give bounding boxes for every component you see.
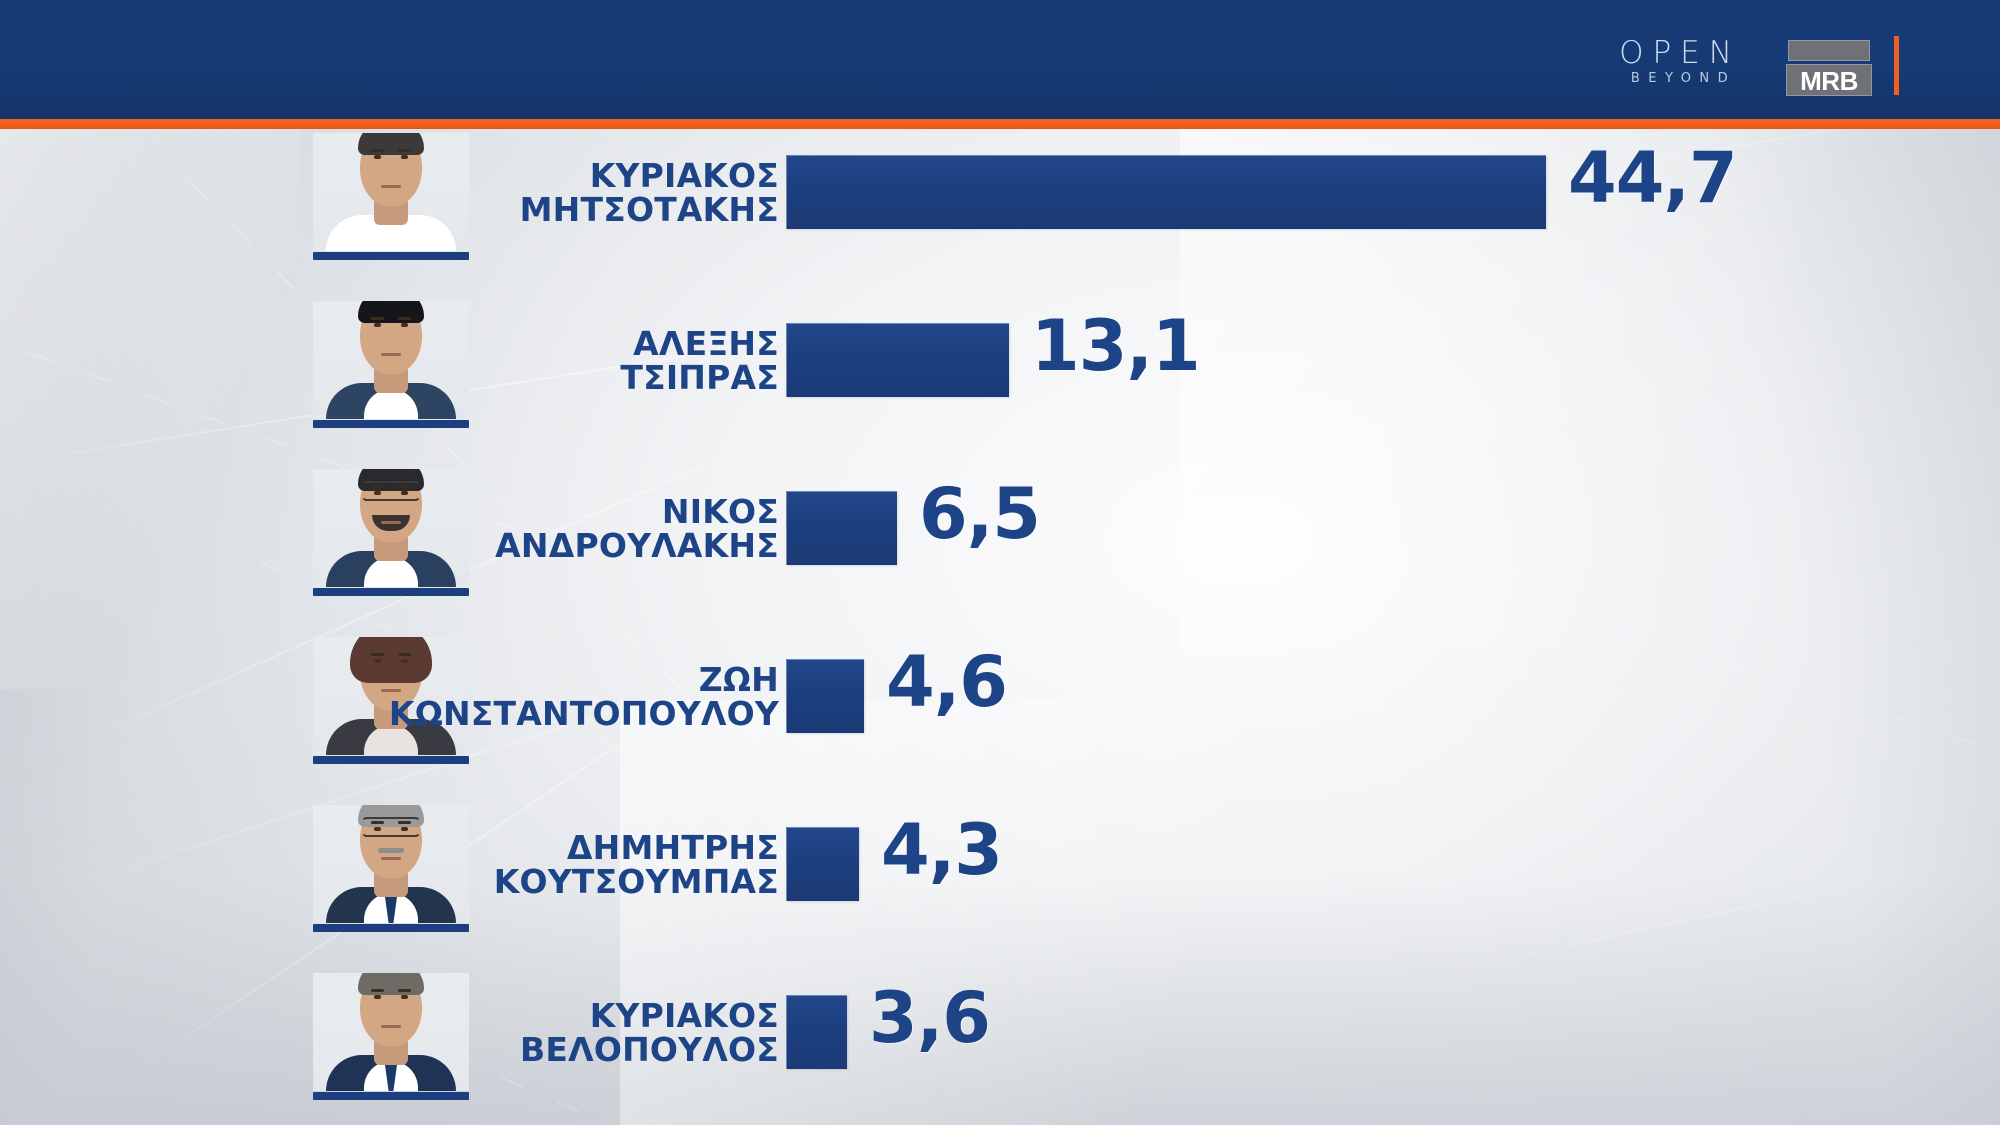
- broadcast-poll-graphic: Καταλληλότερος Πρωθυπουργός- Αυθόρμητα O…: [0, 0, 2000, 1125]
- candidate-name-line2: ΜΗΤΣΟΤΑΚΗΣ: [520, 193, 779, 227]
- candidate-name: ΑΛΕΞΗΣΤΣΙΠΡΑΣ: [489, 297, 779, 425]
- candidate-name-line2: ΚΩΝΣΤΑΝΤΟΠΟΥΛΟΥ: [389, 697, 779, 731]
- candidate-photo-underline: [313, 924, 469, 932]
- candidate-name-line1: ΚΥΡΙΑΚΟΣ: [590, 159, 779, 193]
- candidate-name: ΝΙΚΟΣΑΝΔΡΟΥΛΑΚΗΣ: [489, 465, 779, 593]
- candidate-photo: [313, 973, 469, 1091]
- candidate-name: ΚΥΡΙΑΚΟΣΜΗΤΣΟΤΑΚΗΣ: [489, 129, 779, 257]
- bar: [786, 491, 897, 565]
- header-orange-tick: [1894, 36, 1899, 95]
- candidate-photo: [313, 805, 469, 923]
- candidate-name-line1: ΔΗΜΗΤΡΗΣ: [567, 831, 779, 865]
- candidate-name-line1: ΖΩΗ: [699, 663, 779, 697]
- candidate-photo-underline: [313, 588, 469, 596]
- candidate-photo-underline: [313, 420, 469, 428]
- candidate-photo-underline: [313, 756, 469, 764]
- candidate-photo-image: [313, 133, 469, 251]
- mrb-logo-cap: [1788, 40, 1870, 61]
- candidate-photo-underline: [313, 1092, 469, 1100]
- candidate-photo-image: [313, 301, 469, 419]
- chart-row: ΖΩΗΚΩΝΣΤΑΝΤΟΠΟΥΛΟΥ4,6: [0, 633, 2000, 801]
- mrb-logo-label: MRB: [1800, 68, 1858, 94]
- bar-value-label: 13,1: [1031, 311, 1200, 381]
- chart-row: ΑΛΕΞΗΣΤΣΙΠΡΑΣ13,1: [0, 297, 2000, 465]
- open-logo-word: OPEN: [1600, 36, 1760, 70]
- bar-value-label: 4,6: [886, 647, 1007, 717]
- mrb-logo: MRB: [1786, 40, 1872, 96]
- mrb-logo-body: MRB: [1786, 64, 1872, 96]
- candidate-name: ΖΩΗΚΩΝΣΤΑΝΤΟΠΟΥΛΟΥ: [489, 633, 779, 761]
- candidate-photo: [313, 469, 469, 587]
- bar-value-label: 44,7: [1568, 143, 1737, 213]
- candidate-name-line1: ΑΛΕΞΗΣ: [633, 327, 779, 361]
- bar: [786, 827, 859, 901]
- candidate-name-line1: ΝΙΚΟΣ: [662, 495, 779, 529]
- candidate-name: ΔΗΜΗΤΡΗΣΚΟΥΤΣΟΥΜΠΑΣ: [489, 801, 779, 929]
- bar-chart: ΚΥΡΙΑΚΟΣΜΗΤΣΟΤΑΚΗΣ44,7ΑΛΕΞΗΣΤΣΙΠΡΑΣ13,1Ν…: [0, 129, 2000, 1125]
- candidate-name-line2: ΑΝΔΡΟΥΛΑΚΗΣ: [495, 529, 779, 563]
- candidate-photo-underline: [313, 252, 469, 260]
- bar-value-label: 3,6: [869, 983, 990, 1053]
- candidate-name-line2: ΒΕΛΟΠΟΥΛΟΣ: [520, 1033, 779, 1067]
- bar-value-label: 6,5: [919, 479, 1040, 549]
- candidate-name-line2: ΤΣΙΠΡΑΣ: [620, 361, 779, 395]
- chart-row: ΚΥΡΙΑΚΟΣΒΕΛΟΠΟΥΛΟΣ3,6: [0, 969, 2000, 1125]
- bar: [786, 995, 847, 1069]
- candidate-photo-image: [313, 469, 469, 587]
- header-orange-rule: [0, 119, 2000, 129]
- candidate-photo: [313, 301, 469, 419]
- candidate-name-line1: ΚΥΡΙΑΚΟΣ: [590, 999, 779, 1033]
- chart-row: ΔΗΜΗΤΡΗΣΚΟΥΤΣΟΥΜΠΑΣ4,3: [0, 801, 2000, 969]
- chart-row: ΚΥΡΙΑΚΟΣΜΗΤΣΟΤΑΚΗΣ44,7: [0, 129, 2000, 297]
- bar-value-label: 4,3: [881, 815, 1002, 885]
- open-logo-subtitle: BEYOND: [1600, 70, 1760, 88]
- bar: [786, 659, 864, 733]
- candidate-photo-image: [313, 805, 469, 923]
- candidate-photo-image: [313, 973, 469, 1091]
- candidate-name-line2: ΚΟΥΤΣΟΥΜΠΑΣ: [494, 865, 779, 899]
- chart-row: ΝΙΚΟΣΑΝΔΡΟΥΛΑΚΗΣ6,5: [0, 465, 2000, 633]
- candidate-photo: [313, 133, 469, 251]
- bar: [786, 323, 1009, 397]
- candidate-name: ΚΥΡΙΑΚΟΣΒΕΛΟΠΟΥΛΟΣ: [489, 969, 779, 1097]
- bar: [786, 155, 1546, 229]
- open-beyond-logo: OPEN BEYOND: [1600, 36, 1760, 100]
